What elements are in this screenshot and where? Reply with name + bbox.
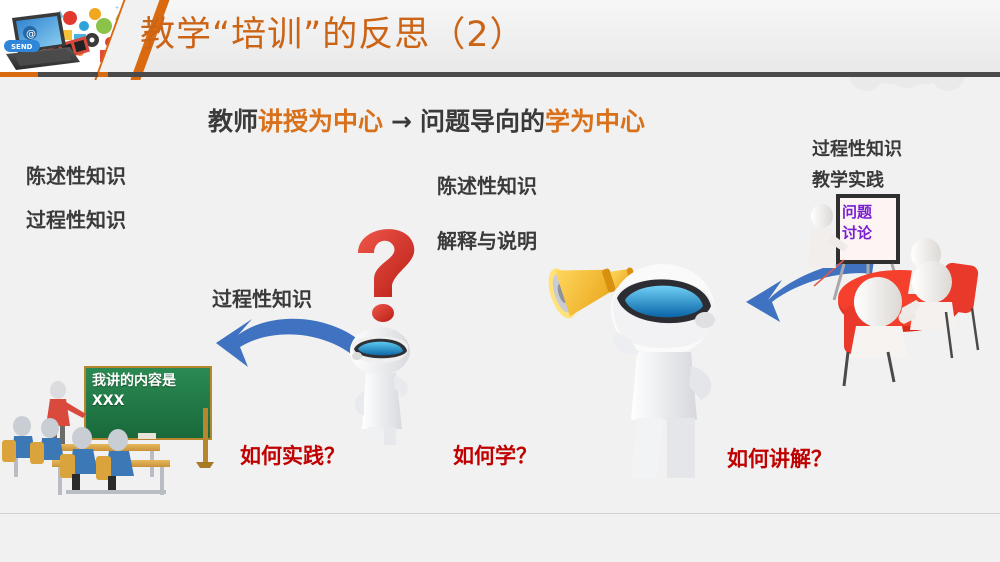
lead-part-3: 问题导向的 xyxy=(420,107,545,136)
classroom-illustration xyxy=(0,340,250,520)
blackboard-line-1: 我讲的内容是 xyxy=(92,371,176,391)
megaphone-speaker-illustration xyxy=(545,248,745,478)
svg-text:SEND: SEND xyxy=(11,43,33,51)
lead-statement: 教师讲授为中心→问题导向的学为中心 xyxy=(208,102,645,138)
group-discussion-illustration xyxy=(800,190,1000,390)
slide-footer: 2017/12/22 现代教学技术教育部重点实验室 陕西师范大学国家级教师教学发… xyxy=(0,514,1000,562)
left-knowledge-line-2: 过程性知识 xyxy=(26,204,126,233)
flipchart-line-1: 问题 xyxy=(842,202,872,223)
flipchart-text: 问题 讨论 xyxy=(842,202,872,244)
right-knowledge-line-2: 教学实践 xyxy=(812,166,884,192)
speaker-body xyxy=(613,332,711,478)
right-knowledge-line-1: 过程性知识 xyxy=(812,135,902,161)
flipchart-line-2: 讨论 xyxy=(842,223,872,244)
question-label-1: 如何实践？ xyxy=(240,440,345,470)
arrow-right-icon: → xyxy=(383,107,420,136)
question-mark-icon xyxy=(358,229,414,322)
page-title: 教学“培训”的反思（2） xyxy=(140,13,526,57)
header-divider-accent-secondary xyxy=(98,72,108,77)
question-mark-thinker-illustration xyxy=(340,215,460,445)
header-divider xyxy=(0,72,1000,77)
blackboard-line-2: XXX xyxy=(92,391,176,411)
lead-part-4: 学为中心 xyxy=(545,107,645,136)
middle-knowledge-line-1: 陈述性知识 xyxy=(437,170,537,199)
slide-canvas: + + @ xyxy=(0,0,1000,562)
svg-text:@: @ xyxy=(26,29,36,40)
question-label-3: 如何讲解？ xyxy=(727,443,832,473)
blackboard-text: 我讲的内容是 XXX xyxy=(92,371,176,411)
lead-part-2: 讲授为中心 xyxy=(258,107,383,136)
lead-part-1: 教师 xyxy=(208,107,258,136)
question-label-2: 如何学？ xyxy=(453,440,537,470)
left-knowledge-line-1: 陈述性知识 xyxy=(26,160,126,189)
thinking-figure xyxy=(350,327,410,445)
slide-header: + + @ xyxy=(0,0,1000,72)
header-divider-accent xyxy=(0,72,38,77)
